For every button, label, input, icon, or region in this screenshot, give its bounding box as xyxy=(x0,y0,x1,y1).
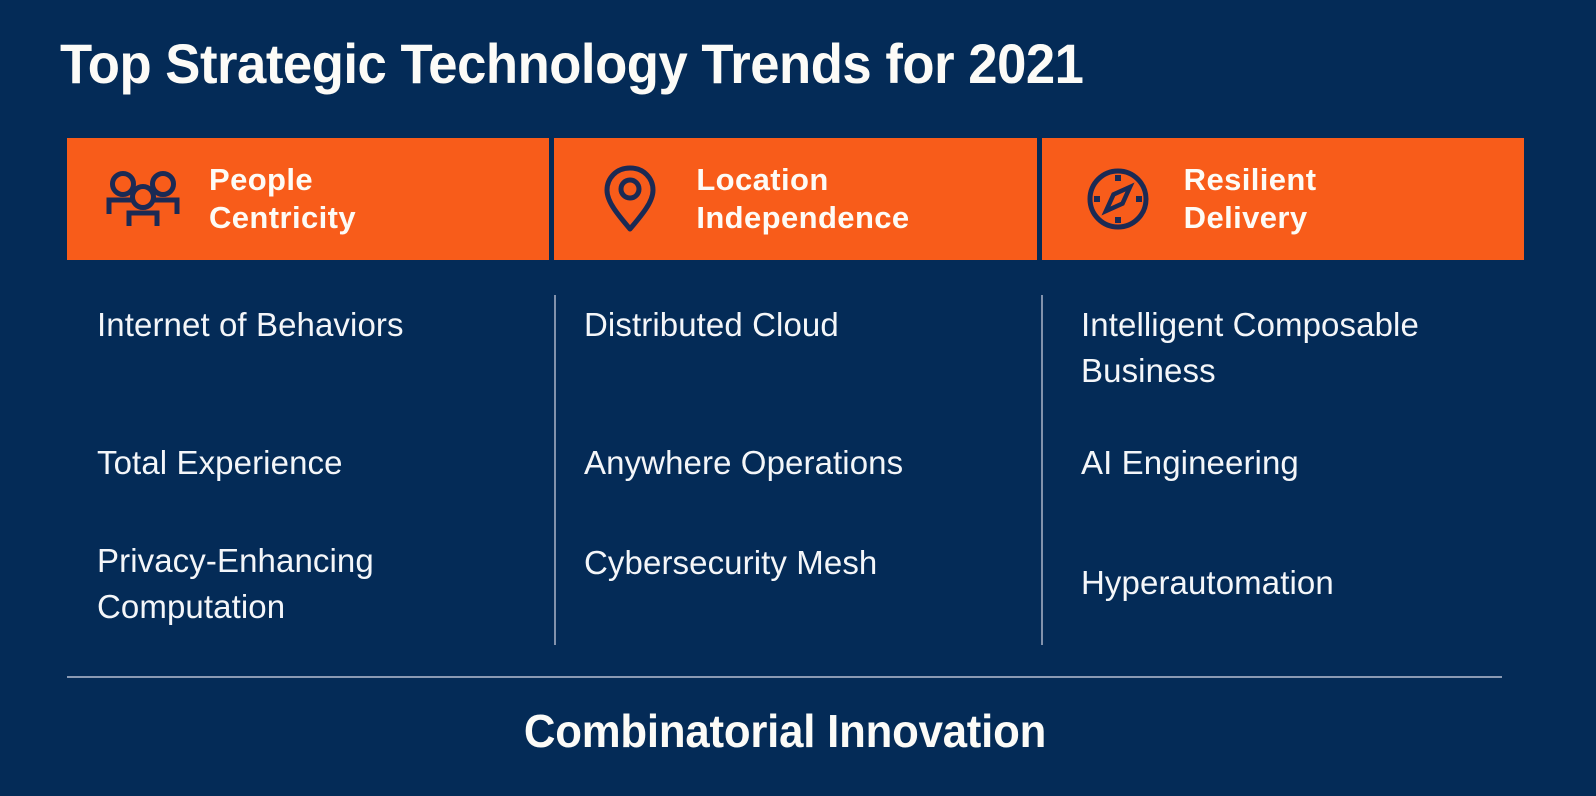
trend-item: Privacy-Enhancing Computation xyxy=(97,538,542,630)
trend-item: Cybersecurity Mesh xyxy=(584,540,1029,586)
location-pin-icon xyxy=(592,163,668,235)
header-card-resilient-delivery[interactable]: Resilient Delivery xyxy=(1042,138,1524,260)
header-label-resilient-delivery: Resilient Delivery xyxy=(1184,161,1317,237)
page-title: Top Strategic Technology Trends for 2021 xyxy=(60,28,1451,100)
trend-item: Intelligent Composable Business xyxy=(1081,302,1524,394)
footer-label: Combinatorial Innovation xyxy=(39,700,1531,762)
header-card-location-independence[interactable]: Location Independence xyxy=(554,138,1036,260)
trend-item: Anywhere Operations xyxy=(584,440,1029,486)
trend-column-location-independence: Distributed Cloud Anywhere Operations Cy… xyxy=(554,290,1041,650)
trend-item: Internet of Behaviors xyxy=(97,302,542,348)
horizontal-divider xyxy=(67,676,1502,678)
header-bar-row: People Centricity Location Independence xyxy=(67,138,1524,260)
trend-column-resilient-delivery: Intelligent Composable Business AI Engin… xyxy=(1041,290,1524,650)
trend-column-people-centricity: Internet of Behaviors Total Experience P… xyxy=(67,290,554,650)
trend-item: Distributed Cloud xyxy=(584,302,1029,348)
slide-root: Top Strategic Technology Trends for 2021… xyxy=(0,0,1596,796)
people-group-icon xyxy=(105,163,181,235)
header-label-location-independence: Location Independence xyxy=(696,161,909,237)
trend-item: AI Engineering xyxy=(1081,440,1524,486)
trend-item: Total Experience xyxy=(97,440,542,486)
compass-icon xyxy=(1080,163,1156,235)
trend-columns: Internet of Behaviors Total Experience P… xyxy=(67,290,1524,650)
header-label-people-centricity: People Centricity xyxy=(209,161,356,237)
header-card-people-centricity[interactable]: People Centricity xyxy=(67,138,549,260)
trend-item: Hyperautomation xyxy=(1081,560,1524,606)
